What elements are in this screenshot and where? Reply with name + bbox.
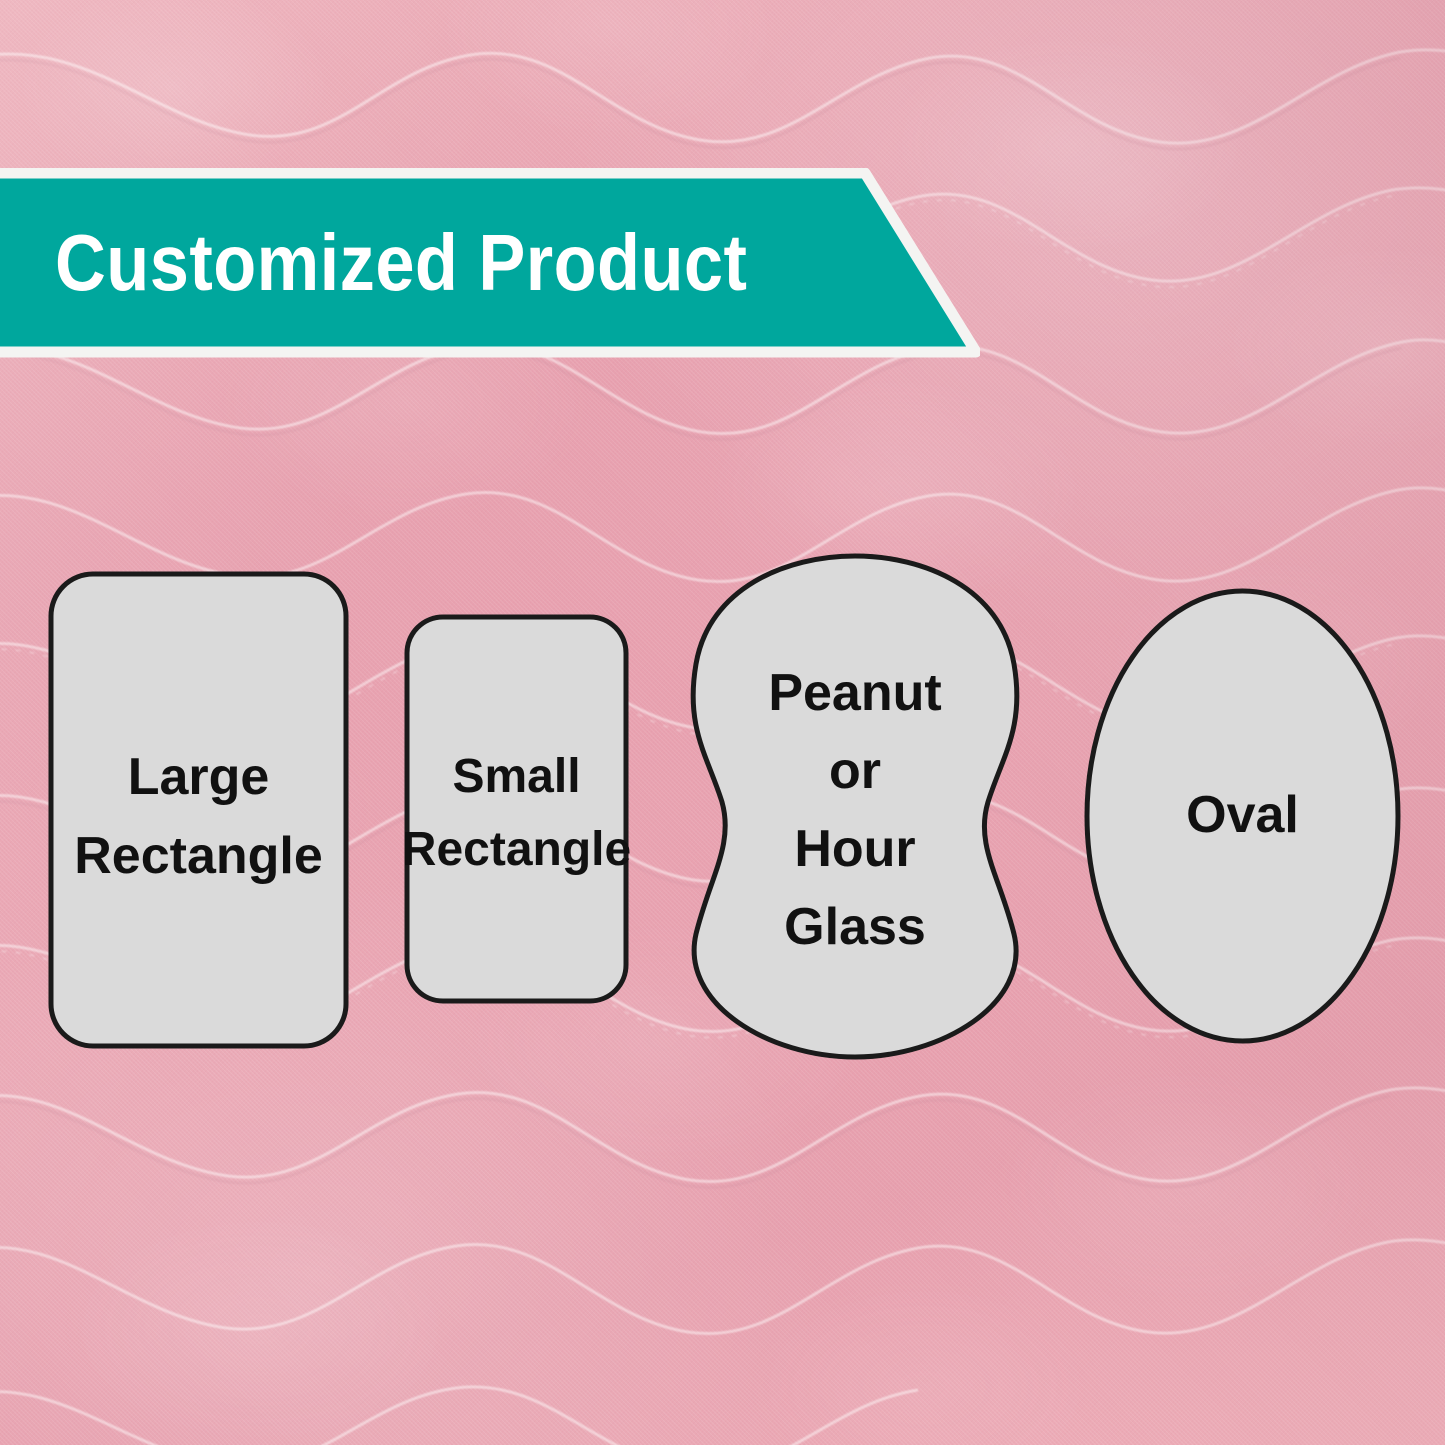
product-infographic: Customized Product Large Rectangle Small… <box>0 0 1445 1445</box>
shape-large-rectangle[interactable]: Large Rectangle <box>48 571 349 1049</box>
banner-title: Customized Product <box>55 168 747 358</box>
shape-peanut[interactable]: Peanut or Hour Glass <box>684 552 1026 1061</box>
peanut-shape-icon <box>684 552 1026 1061</box>
rounded-rectangle-icon <box>404 614 629 1004</box>
rounded-rectangle-icon <box>48 571 349 1049</box>
oval-shape-icon <box>1084 588 1401 1044</box>
shape-oval[interactable]: Oval <box>1084 588 1401 1044</box>
shape-small-rectangle[interactable]: Small Rectangle <box>404 614 629 1004</box>
banner: Customized Product <box>0 168 980 358</box>
